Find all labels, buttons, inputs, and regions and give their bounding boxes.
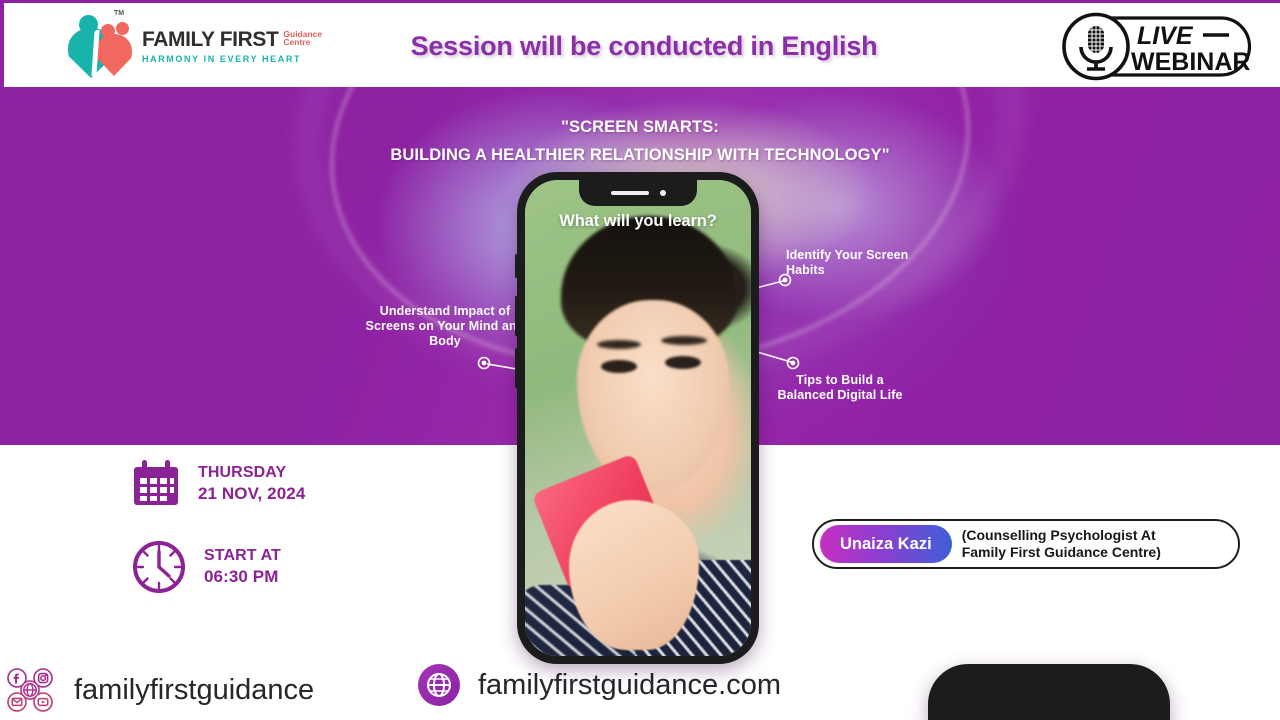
email-icon — [8, 693, 26, 711]
child-with-phone-photo — [525, 180, 751, 656]
date-info: THURSDAY 21 NOV, 2024 — [130, 458, 305, 510]
phone-block[interactable]: +91 783 783 3888 — [928, 664, 1170, 720]
banner-text: Session will be conducted in English — [411, 31, 878, 62]
website-text: familyfirstguidance.com — [478, 669, 781, 702]
live-badge-line1: LIVE — [1137, 22, 1194, 50]
webinar-poster: TM FAMILY FIRST Guidance Centre HARMONY … — [0, 0, 1280, 720]
brand-logo: TM FAMILY FIRST Guidance Centre HARMONY … — [66, 9, 336, 83]
logo-title: FAMILY FIRST — [142, 29, 278, 50]
front-camera-icon — [660, 190, 666, 196]
poster-header: TM FAMILY FIRST Guidance Centre HARMONY … — [0, 0, 1280, 87]
speaker-name: Unaiza Kazi — [820, 525, 952, 563]
logo-sub-line2: Centre — [283, 37, 310, 47]
phone-mockup: What will you learn? — [517, 172, 759, 664]
phone-screen — [525, 180, 751, 656]
logo-tagline: HARMONY IN EVERY HEART — [142, 54, 322, 64]
time-label: START AT — [204, 547, 281, 565]
social-handle-block[interactable]: familyfirstguidance — [4, 664, 314, 716]
family-first-logo-icon: TM — [66, 10, 136, 82]
phone-notch — [579, 180, 697, 206]
social-handle-text: familyfirstguidance — [74, 674, 314, 707]
date-value: 21 NOV, 2024 — [198, 484, 305, 504]
live-badge-line2: WEBINAR — [1131, 48, 1250, 76]
hero-title-line-2: BUILDING A HEALTHIER RELATIONSHIP WITH T… — [0, 141, 1280, 169]
speaker-slot-icon — [611, 191, 649, 196]
hero-title-block: "SCREEN SMARTS: BUILDING A HEALTHIER REL… — [0, 113, 1280, 169]
phone-headline: What will you learn? — [517, 212, 759, 231]
speaker-role-line1: (Counselling Psychologist At — [962, 527, 1156, 543]
speaker-badge: Unaiza Kazi (Counselling Psychologist At… — [812, 519, 1240, 569]
callout-identify-habits: Identify Your Screen Habits — [786, 248, 936, 278]
speaker-role-line2: Family First Guidance Centre) — [962, 544, 1161, 560]
globe-icon — [418, 664, 460, 706]
live-webinar-badge: LIVE WEBINAR — [1053, 12, 1258, 81]
callout-understand-impact: Understand Impact of Screens on Your Min… — [358, 304, 532, 349]
hero-title-line-1: "SCREEN SMARTS: — [0, 113, 1280, 141]
social-icons-cluster — [4, 664, 56, 716]
website-block[interactable]: familyfirstguidance.com — [418, 664, 781, 706]
clock-icon — [130, 538, 188, 596]
time-value: 06:30 PM — [204, 567, 281, 587]
time-info: START AT 06:30 PM — [130, 538, 281, 596]
calendar-icon — [130, 458, 182, 510]
callout-tips-balanced-life: Tips to Build a Balanced Digital Life — [768, 373, 912, 403]
date-label: THURSDAY — [198, 464, 305, 482]
youtube-icon — [34, 693, 52, 711]
trademark-symbol: TM — [114, 10, 124, 17]
